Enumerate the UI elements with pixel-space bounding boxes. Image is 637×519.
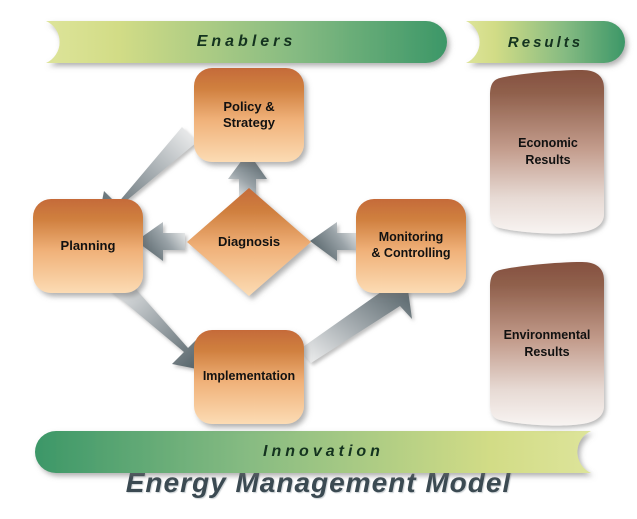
energy-management-model-diagram: Enablers Results Innovation Policy & Str…	[0, 0, 637, 519]
node-implementation: Implementation	[190, 330, 308, 424]
node-planning: Planning	[33, 199, 143, 293]
result-panel-environmental: Environmental Results	[490, 264, 604, 424]
node-diagnosis-label: Diagnosis	[218, 234, 280, 250]
node-policy-strategy: Policy & Strategy	[194, 68, 304, 162]
node-monitoring-controlling: Monitoring & Controlling	[356, 199, 466, 293]
node-diagnosis: Diagnosis	[187, 188, 311, 296]
node-planning-label: Planning	[61, 238, 116, 254]
node-implementation-label: Implementation	[203, 369, 295, 385]
node-policy-strategy-label: Policy & Strategy	[223, 99, 275, 132]
result-panel-economic: Economic Results	[492, 72, 604, 232]
result-panel-economic-label: Economic Results	[518, 135, 578, 169]
result-panel-environmental-label: Environmental Results	[504, 327, 591, 361]
node-monitoring-controlling-label: Monitoring & Controlling	[371, 230, 450, 261]
